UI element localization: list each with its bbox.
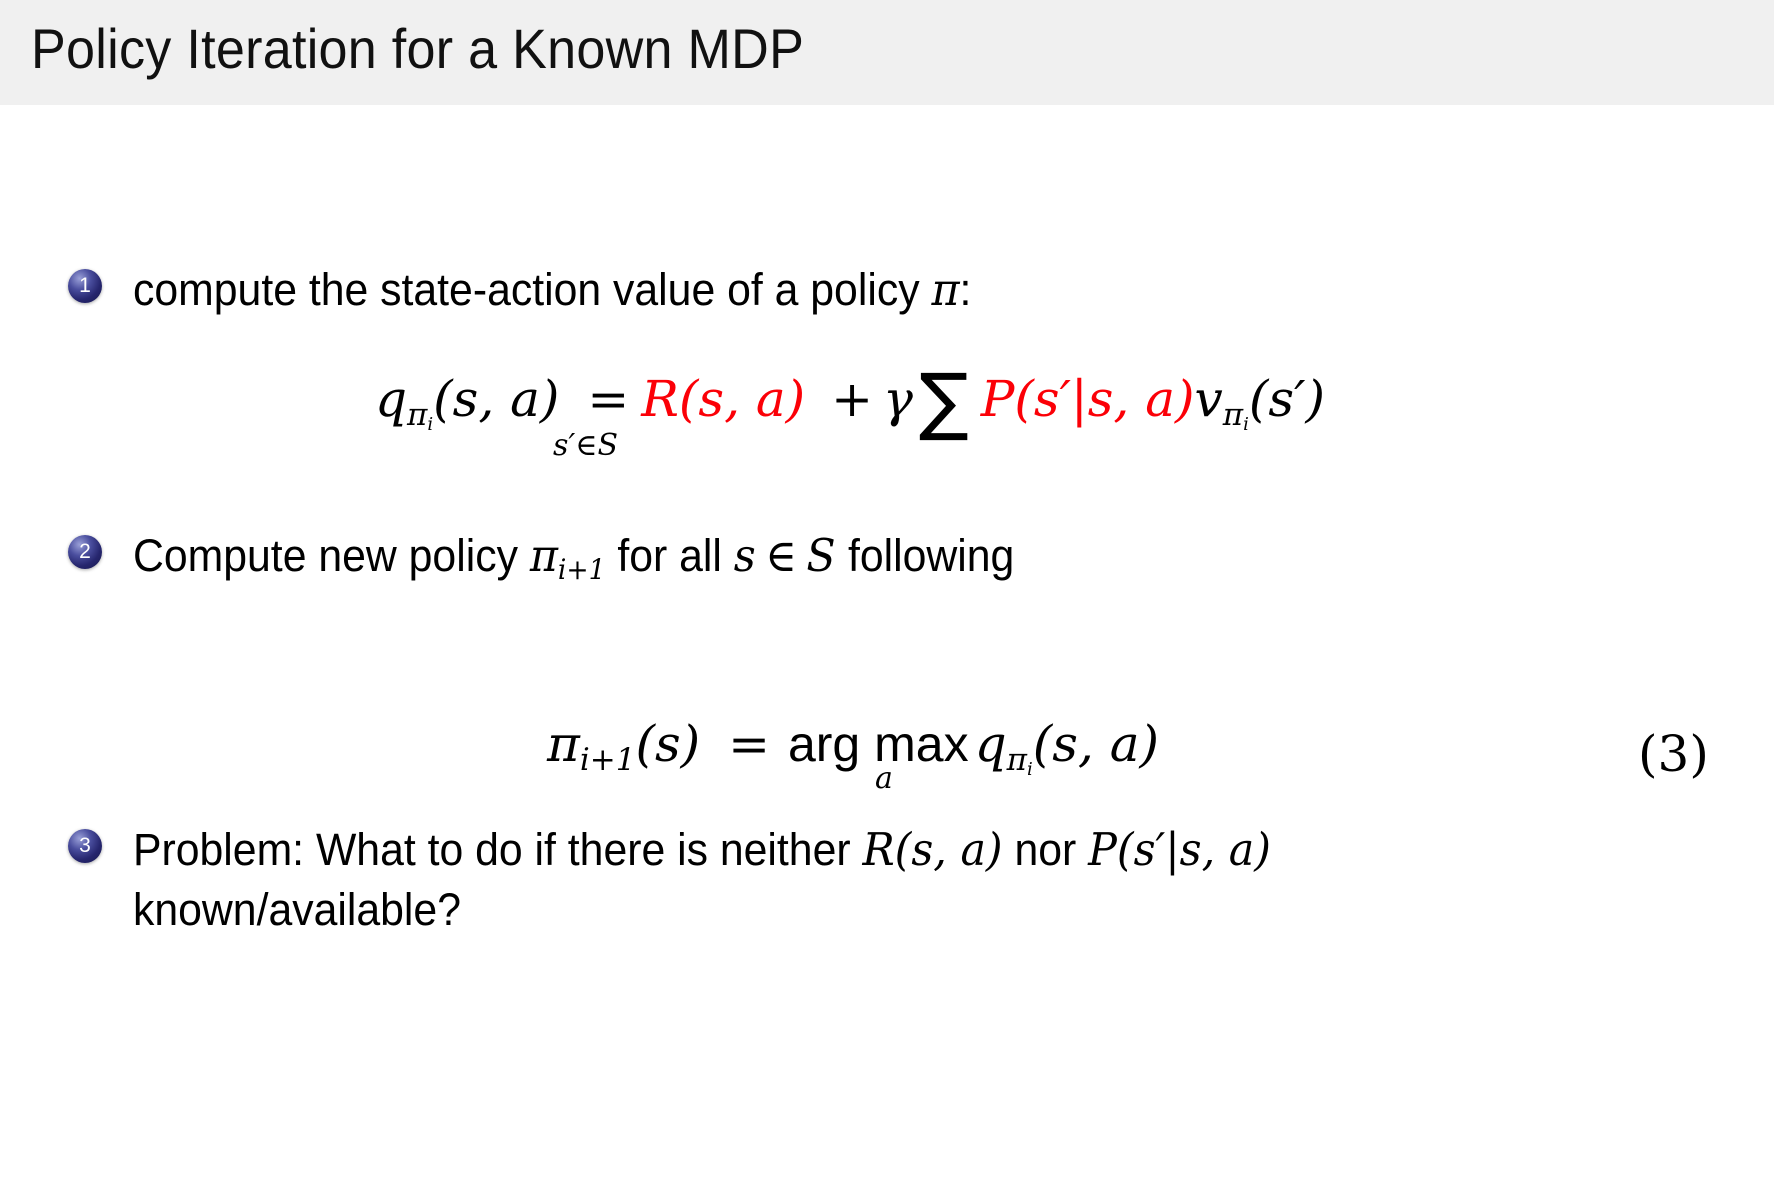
sum-limit-s: s — [553, 428, 568, 463]
eq-pi-q-sub-pi: π — [1007, 742, 1027, 778]
eq-q-value-args: (s′) — [1249, 370, 1325, 428]
enum-marker-2: 2 — [68, 535, 102, 569]
slide-content: 1 compute the state-action value of a po… — [0, 105, 1774, 1186]
list-item-label: Compute new policy πi+1 for all s∈S foll… — [133, 526, 1014, 600]
inline-pi: π — [931, 263, 959, 316]
eq-q-gamma: γ — [883, 370, 913, 428]
list-item-label: Problem: What to do if there is neither … — [133, 820, 1271, 880]
slide-header-band: Policy Iteration for a Known MDP — [0, 0, 1774, 105]
eq-q-sum-limit: s′∈S — [553, 428, 618, 463]
enum-marker-3: 3 — [68, 829, 102, 863]
sum-limit-set: S — [597, 428, 618, 463]
eq-q-lhs-fn: q — [375, 370, 407, 428]
eq-pi-lhs-args: (s) — [635, 715, 700, 773]
item3-text-b: nor — [1003, 824, 1089, 875]
eq-q-value-fn: v — [1195, 370, 1223, 428]
inline-pi-sub: i+1 — [558, 540, 606, 600]
eq-q-equals: = — [587, 370, 629, 428]
inline-P-sprime: P(s′|s, a) — [1088, 823, 1271, 876]
item3-text-a: Problem: What to do if there is neither — [133, 824, 862, 875]
eq-q-value-sub-pi: π — [1223, 397, 1243, 433]
page-title: Policy Iteration for a Known MDP — [31, 16, 804, 81]
item2-text-c: following — [836, 530, 1014, 581]
equation-number: (3) — [1638, 725, 1709, 783]
item1-text: compute the state-action value of a poli… — [133, 264, 931, 315]
eq-q-lhs-sub-pi: π — [407, 397, 427, 433]
equation-q-pi: qπi(s, a) =R(s, a) +γ∑s′∈SP(s′|s, a)vπi(… — [0, 370, 1700, 435]
inline-pi-i-plus-1: π — [530, 529, 558, 582]
eq-pi-q-fn: q — [975, 715, 1007, 773]
eq-q-reward-term: R(s, a) — [641, 370, 805, 428]
eq-pi-lhs-sub: i+1 — [580, 742, 636, 778]
eq-pi-argmax-sub: a — [875, 761, 893, 796]
list-item-label: compute the state-action value of a poli… — [133, 260, 971, 320]
eq-q-lhs-args: (s, a) — [433, 370, 559, 428]
list-item-label-line2: known/available? — [133, 880, 461, 940]
item2-text-b: for all — [605, 530, 733, 581]
item2-text-a: Compute new policy — [133, 530, 530, 581]
eq-pi-equals: = — [728, 715, 770, 773]
inline-in: ∈ — [765, 529, 797, 582]
enum-marker-1: 1 — [68, 269, 102, 303]
eq-pi-q-args: (s, a) — [1033, 715, 1159, 773]
equation-policy-improvement: πi+1(s) =arg maxaqπi(s, a) — [0, 715, 1706, 780]
inline-R-sa: R(s, a) — [862, 823, 1002, 876]
eq-pi-lhs: π — [547, 715, 580, 773]
eq-q-transition-term: P(s′|s, a) — [981, 370, 1195, 428]
inline-s: s — [734, 529, 756, 582]
sum-limit-in: ∈ — [575, 428, 597, 463]
item1-colon: : — [960, 264, 972, 315]
inline-script-S: S — [806, 529, 836, 582]
eq-q-plus: + — [831, 370, 873, 428]
